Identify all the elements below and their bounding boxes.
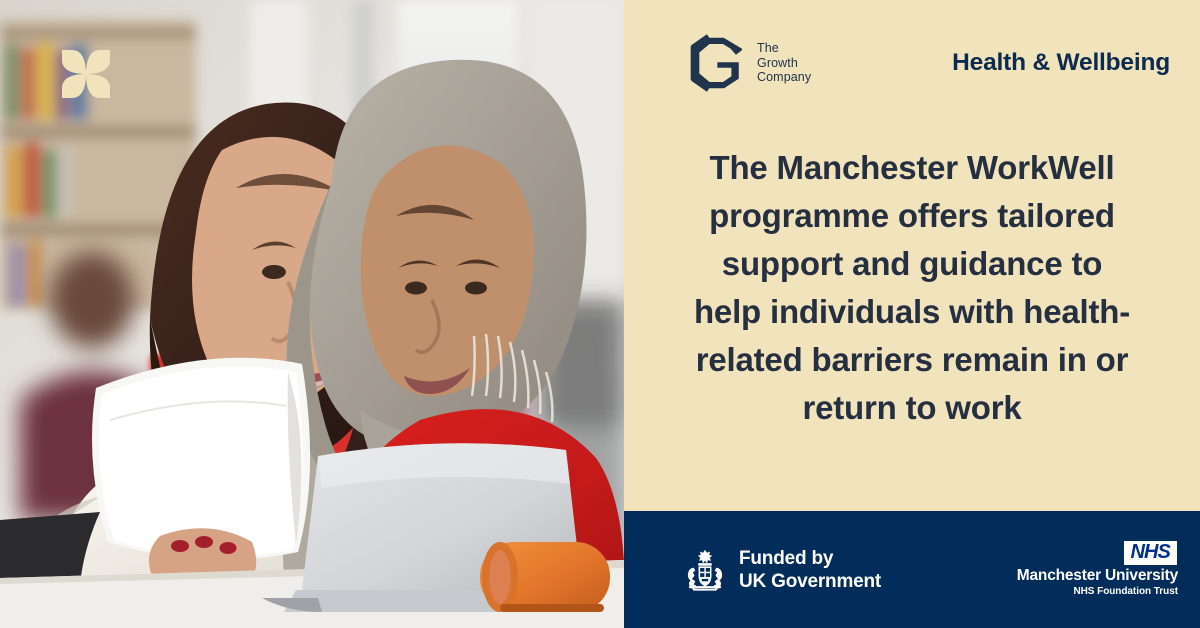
funders-footer-bar: Funded by UK Government NHS Manchester U… <box>624 511 1200 628</box>
funded-by-uk-government-label: Funded by UK Government <box>739 547 881 593</box>
nhs-badge: NHS <box>1124 541 1177 565</box>
growth-company-logo: The Growth Company <box>690 34 811 92</box>
info-top-section: The Growth Company Health & Wellbeing Th… <box>624 0 1200 511</box>
headline-block: The Manchester WorkWell programme offers… <box>624 126 1200 511</box>
nhs-trust-logo: NHS Manchester University NHS Foundation… <box>1017 541 1178 598</box>
photo-pane <box>0 0 624 628</box>
uk-government-logo: Funded by UK Government <box>682 547 881 593</box>
info-pane: The Growth Company Health & Wellbeing Th… <box>624 0 1200 628</box>
programme-headline: The Manchester WorkWell programme offers… <box>692 144 1132 432</box>
nhs-trust-subtitle: NHS Foundation Trust <box>1073 586 1178 598</box>
section-title: Health & Wellbeing <box>952 49 1170 77</box>
four-petal-clover-icon <box>62 50 110 98</box>
brand-header-row: The Growth Company Health & Wellbeing <box>624 0 1200 126</box>
growth-company-wordmark: The Growth Company <box>757 41 811 85</box>
uk-royal-coat-of-arms-icon <box>682 549 728 591</box>
promotional-banner: The Growth Company Health & Wellbeing Th… <box>0 0 1200 628</box>
growth-company-hexagon-g-icon <box>690 34 748 92</box>
nhs-trust-name: Manchester University <box>1017 567 1178 584</box>
